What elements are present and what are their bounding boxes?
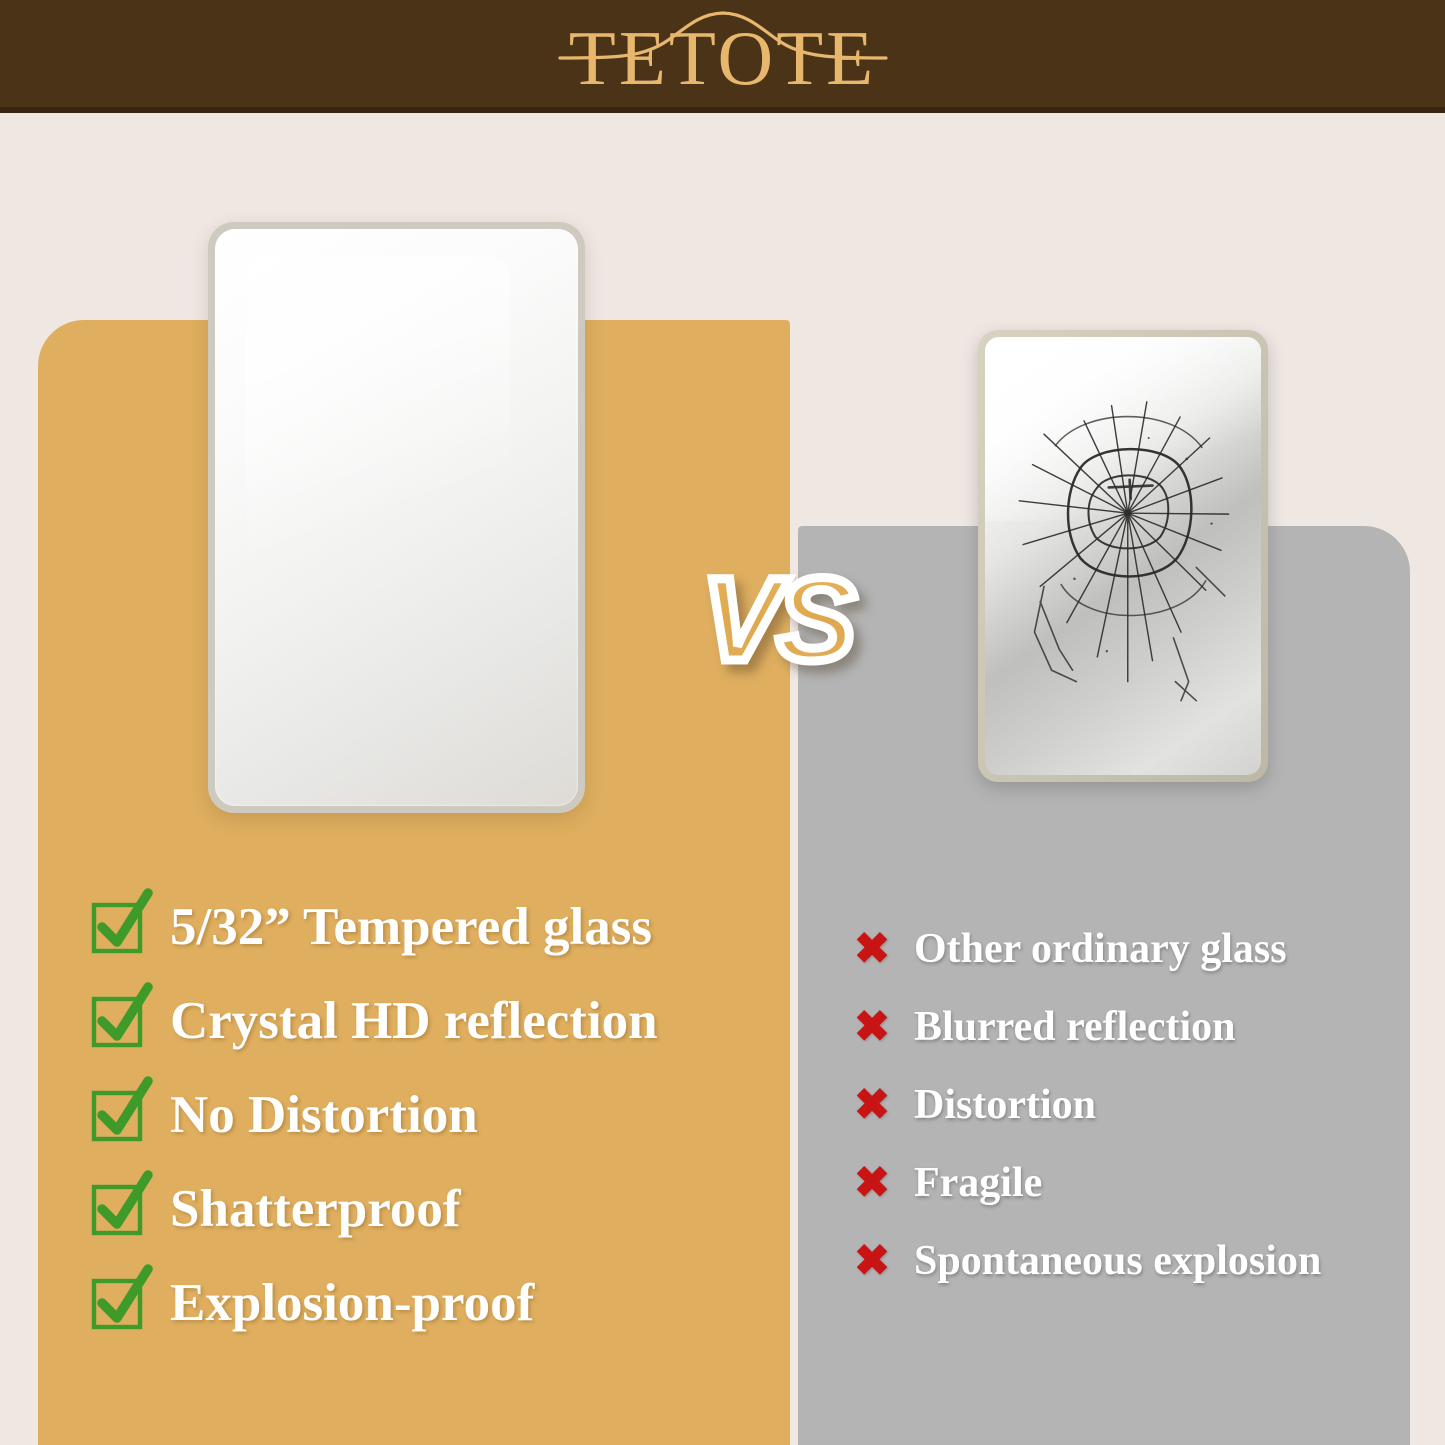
list-item-label: Blurred reflection xyxy=(914,1004,1236,1050)
list-item: No Distortion xyxy=(92,1068,782,1162)
red-x-icon: ✖ xyxy=(852,1006,892,1049)
list-item: Shatterproof xyxy=(92,1162,782,1256)
list-item-label: Fragile xyxy=(914,1160,1042,1206)
list-item-label: Distortion xyxy=(914,1082,1096,1128)
list-item-label: Crystal HD reflection xyxy=(170,993,658,1049)
red-x-icon: ✖ xyxy=(852,1240,892,1283)
list-item: ✖ Spontaneous explosion xyxy=(852,1222,1432,1300)
red-x-icon: ✖ xyxy=(852,1162,892,1205)
list-item: ✖ Distortion xyxy=(852,1066,1432,1144)
list-item: 5/32” Tempered glass xyxy=(92,880,782,974)
clear-mirror-surface xyxy=(215,229,578,806)
ordinary-glass-feature-list: ✖ Other ordinary glass ✖ Blurred reflect… xyxy=(852,910,1432,1300)
list-item: ✖ Blurred reflection xyxy=(852,988,1432,1066)
list-item: Explosion-proof xyxy=(92,1256,782,1350)
list-item: Crystal HD reflection xyxy=(92,974,782,1068)
red-x-icon: ✖ xyxy=(852,1084,892,1127)
tempered-mirror-image xyxy=(208,222,585,813)
green-check-icon xyxy=(92,1089,144,1141)
brand-lockup: TETOTE xyxy=(0,0,1445,113)
brand-name: TETOTE xyxy=(569,16,876,100)
list-item-label: Other ordinary glass xyxy=(914,926,1287,972)
infographic-canvas: TETOTE xyxy=(0,0,1445,1445)
cracked-mirror-image xyxy=(978,330,1268,782)
tempered-glass-feature-list: 5/32” Tempered glass Crystal HD reflecti… xyxy=(92,880,782,1350)
green-check-icon xyxy=(92,1183,144,1235)
red-x-icon: ✖ xyxy=(852,928,892,971)
green-check-icon xyxy=(92,1277,144,1329)
list-item-label: 5/32” Tempered glass xyxy=(170,899,652,955)
list-item-label: No Distortion xyxy=(170,1087,478,1143)
list-item-label: Shatterproof xyxy=(170,1181,461,1237)
list-item: ✖ Fragile xyxy=(852,1144,1432,1222)
versus-badge: VS xyxy=(672,552,882,687)
list-item-label: Explosion-proof xyxy=(170,1275,534,1331)
versus-label: VS xyxy=(702,561,851,679)
list-item-label: Spontaneous explosion xyxy=(914,1238,1321,1284)
shatter-crack-icon xyxy=(985,337,1261,775)
cracked-mirror-surface xyxy=(985,337,1261,775)
list-item: ✖ Other ordinary glass xyxy=(852,910,1432,988)
brand-banner: TETOTE xyxy=(0,0,1445,113)
green-check-icon xyxy=(92,995,144,1047)
green-check-icon xyxy=(92,901,144,953)
